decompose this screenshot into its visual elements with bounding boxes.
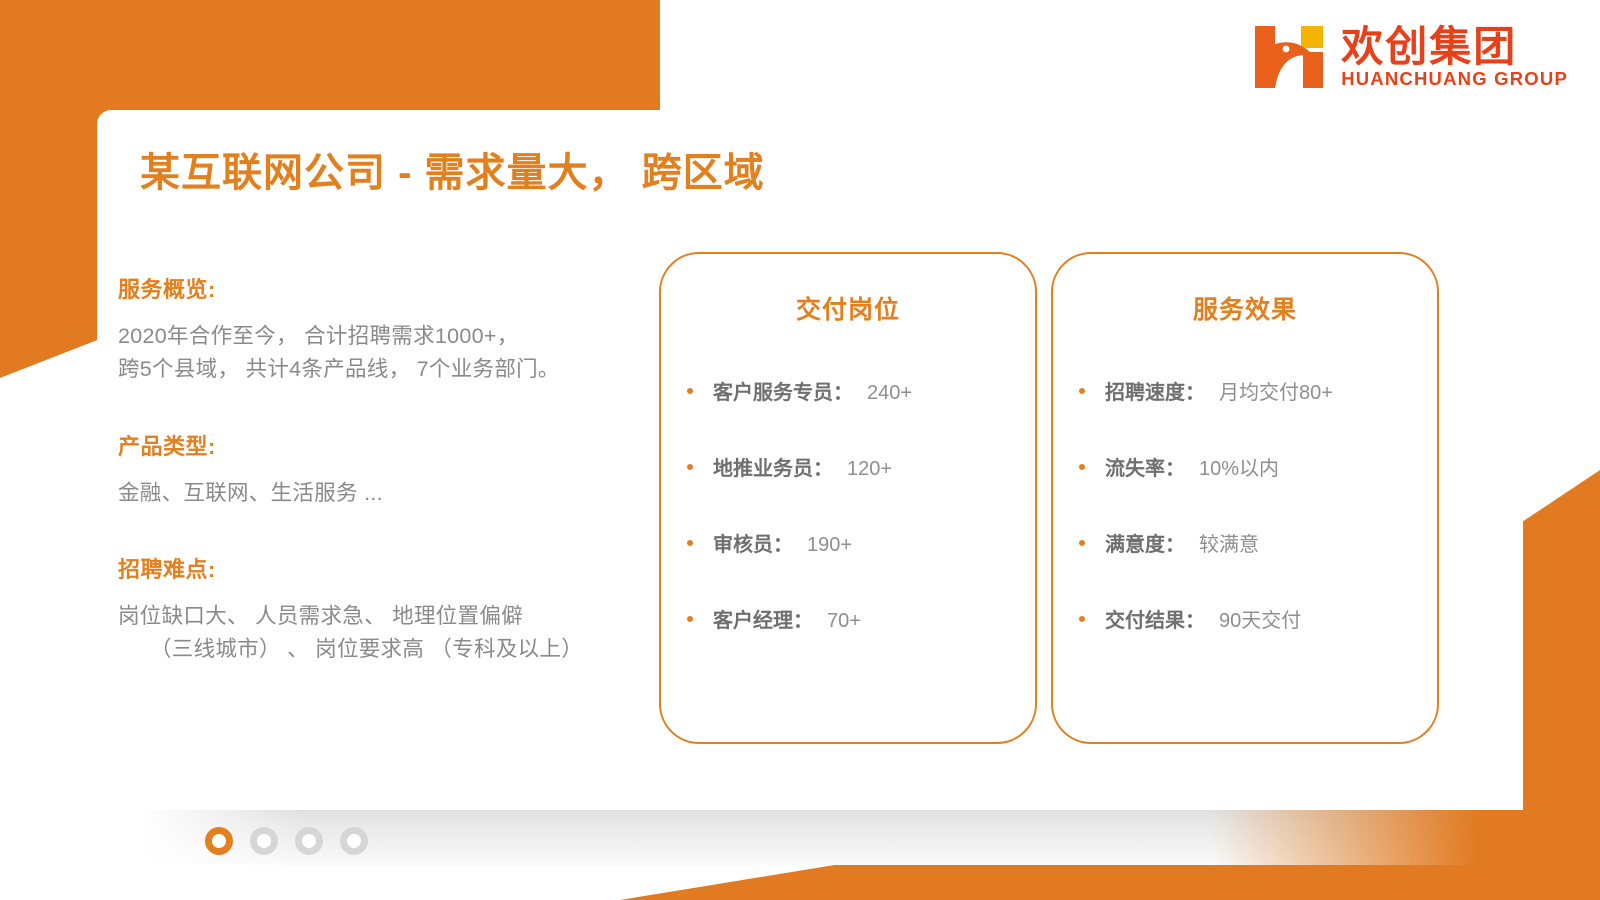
bullet-value: 10%以内: [1199, 452, 1279, 481]
section-body-line: 金融、互联网、生活服务 ...: [118, 481, 383, 505]
bullet-label: 审核员：: [713, 528, 793, 557]
pagination-dot-3[interactable]: [295, 827, 323, 855]
section-body-line: 跨5个县域， 共计4条产品线， 7个业务部门。: [118, 357, 560, 381]
brand-name-en: HUANCHUANG GROUP: [1341, 70, 1568, 89]
bullet-dot-icon: [1079, 464, 1085, 470]
panel-bullet-list: 招聘速度： 月均交付80+ 流失率： 10%以内 满意度： 较满意 交付结果： …: [1053, 376, 1437, 633]
huanchuang-logo-icon: [1253, 22, 1325, 92]
bullet-label: 地推业务员：: [713, 452, 833, 481]
list-item: 交付结果： 90天交付: [1053, 604, 1437, 633]
section-heading: 产品类型:: [118, 429, 628, 461]
brand-name-cn: 欢创集团: [1341, 26, 1568, 68]
slide-canvas: 欢创集团 HUANCHUANG GROUP 某互联网公司 - 需求量大， 跨区域…: [0, 0, 1600, 900]
section-recruiting-challenges: 招聘难点: 岗位缺口大、 人员需求急、 地理位置偏僻 （三线城市） 、 岗位要求…: [118, 552, 628, 667]
bullet-value: 较满意: [1199, 528, 1259, 557]
section-body-line: 2020年合作至今， 合计招聘需求1000+，: [118, 324, 519, 348]
section-service-overview: 服务概览: 2020年合作至今， 合计招聘需求1000+， 跨5个县域， 共计4…: [118, 272, 628, 387]
section-product-type: 产品类型: 金融、互联网、生活服务 ...: [118, 429, 628, 510]
overview-column: 服务概览: 2020年合作至今， 合计招聘需求1000+， 跨5个县域， 共计4…: [118, 272, 628, 667]
bullet-dot-icon: [687, 388, 693, 394]
section-body: 岗位缺口大、 人员需求急、 地理位置偏僻 （三线城市） 、 岗位要求高 （专科及…: [118, 600, 628, 667]
bullet-dot-icon: [687, 464, 693, 470]
panel-delivered-positions: 交付岗位 客户服务专员： 240+ 地推业务员： 120+ 审核员： 190+ …: [659, 252, 1037, 744]
pagination-dot-2[interactable]: [250, 827, 278, 855]
bullet-value: 120+: [847, 458, 892, 481]
list-item: 客户经理： 70+: [661, 604, 1035, 633]
list-item: 客户服务专员： 240+: [661, 376, 1035, 405]
brand-logo: 欢创集团 HUANCHUANG GROUP: [1253, 22, 1568, 92]
bullet-label: 客户服务专员：: [713, 376, 853, 405]
bullet-value: 190+: [807, 534, 852, 557]
section-heading: 招聘难点:: [118, 552, 628, 584]
list-item: 满意度： 较满意: [1053, 528, 1437, 557]
page-title: 某互联网公司 - 需求量大， 跨区域: [140, 140, 765, 198]
panel-title: 服务效果: [1053, 290, 1437, 326]
bullet-value: 70+: [827, 610, 861, 633]
bullet-dot-icon: [1079, 388, 1085, 394]
list-item: 招聘速度： 月均交付80+: [1053, 376, 1437, 405]
bullet-label: 流失率：: [1105, 452, 1185, 481]
brand-logo-text: 欢创集团 HUANCHUANG GROUP: [1341, 26, 1568, 89]
bullet-dot-icon: [1079, 540, 1085, 546]
section-body: 金融、互联网、生活服务 ...: [118, 477, 628, 510]
bullet-dot-icon: [687, 540, 693, 546]
bullet-dot-icon: [1079, 616, 1085, 622]
section-body-line: （三线城市） 、 岗位要求高 （专科及以上）: [118, 633, 628, 666]
bullet-label: 招聘速度：: [1105, 376, 1205, 405]
list-item: 地推业务员： 120+: [661, 452, 1035, 481]
section-body-line: 岗位缺口大、 人员需求急、 地理位置偏僻: [118, 604, 523, 628]
bullet-dot-icon: [687, 616, 693, 622]
bullet-label: 交付结果：: [1105, 604, 1205, 633]
bullet-value: 月均交付80+: [1219, 376, 1333, 405]
panel-bullet-list: 客户服务专员： 240+ 地推业务员： 120+ 审核员： 190+ 客户经理：…: [661, 376, 1035, 633]
bullet-label: 客户经理：: [713, 604, 813, 633]
slide-pagination[interactable]: [205, 827, 368, 855]
list-item: 流失率： 10%以内: [1053, 452, 1437, 481]
pagination-dot-4[interactable]: [340, 827, 368, 855]
bullet-label: 满意度：: [1105, 528, 1185, 557]
bullet-value: 240+: [867, 382, 912, 405]
list-item: 审核员： 190+: [661, 528, 1035, 557]
pagination-dot-1[interactable]: [205, 827, 233, 855]
bullet-value: 90天交付: [1219, 604, 1301, 633]
section-heading: 服务概览:: [118, 272, 628, 304]
panel-service-results: 服务效果 招聘速度： 月均交付80+ 流失率： 10%以内 满意度： 较满意 交…: [1051, 252, 1439, 744]
panel-title: 交付岗位: [661, 290, 1035, 326]
section-body: 2020年合作至今， 合计招聘需求1000+， 跨5个县域， 共计4条产品线， …: [118, 320, 628, 387]
